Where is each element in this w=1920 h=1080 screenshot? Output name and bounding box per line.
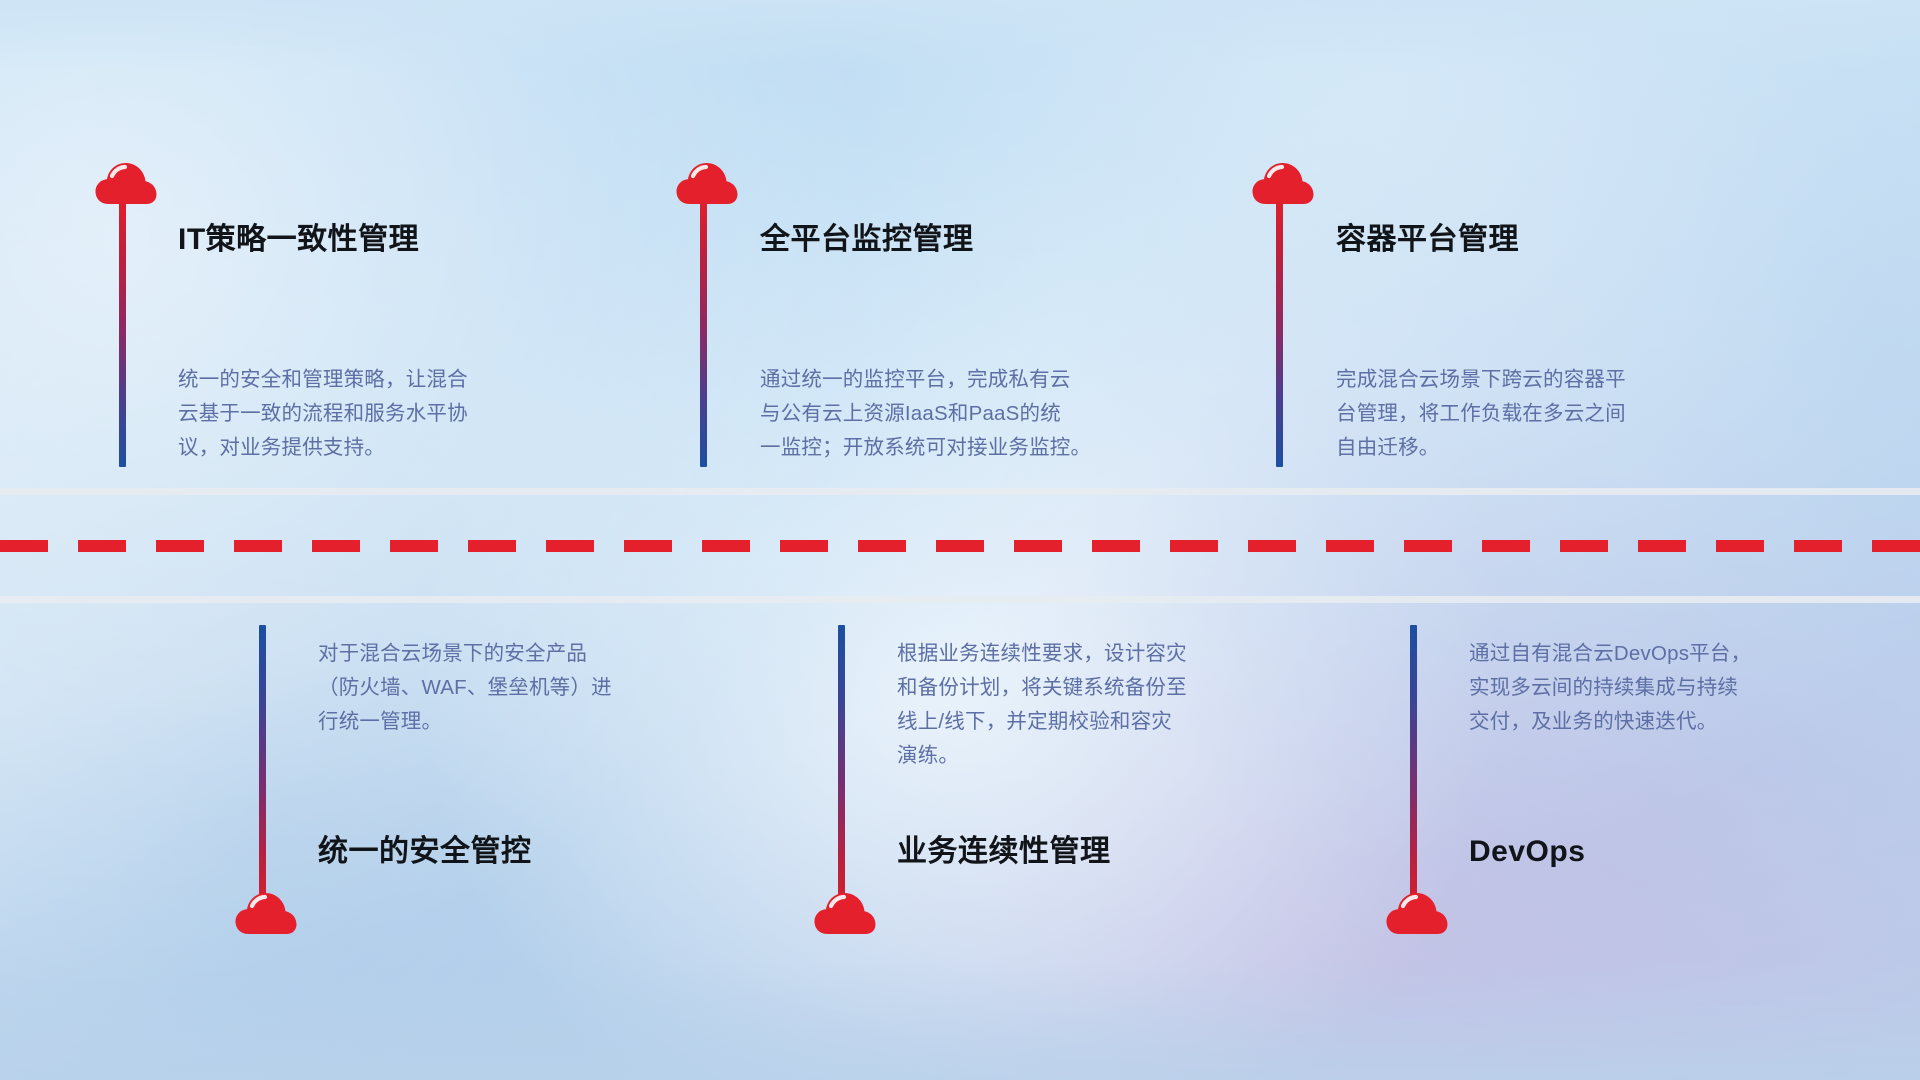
bottom-vignette xyxy=(0,960,1920,1080)
timeline-stem xyxy=(1410,625,1417,908)
cloud-icon xyxy=(676,160,738,206)
dashed-divider xyxy=(0,540,1920,552)
infographic-canvas: IT策略一致性管理 统一的安全和管理策略，让混合 云基于一致的流程和服务水平协 … xyxy=(0,0,1920,1080)
timeline-stem xyxy=(700,202,707,467)
divider-rule-top xyxy=(0,488,1920,495)
section-heading: 全平台监控管理 xyxy=(760,225,974,255)
cloud-icon xyxy=(1386,890,1448,936)
section-heading: IT策略一致性管理 xyxy=(178,225,419,255)
timeline-stem xyxy=(259,625,266,908)
section-body: 完成混合云场景下跨云的容器平 台管理，将工作负载在多云之间 自由迁移。 xyxy=(1336,363,1776,465)
section-body: 通过统一的监控平台，完成私有云 与公有云上资源IaaS和PaaS的统 一监控；开… xyxy=(760,363,1200,465)
timeline-stem xyxy=(838,625,845,908)
timeline-stem xyxy=(1276,202,1283,467)
section-body: 统一的安全和管理策略，让混合 云基于一致的流程和服务水平协 议，对业务提供支持。 xyxy=(178,363,608,465)
divider-rule-bottom xyxy=(0,596,1920,603)
section-heading: 容器平台管理 xyxy=(1336,225,1519,255)
section-heading: 业务连续性管理 xyxy=(897,837,1111,867)
cloud-icon xyxy=(235,890,297,936)
cloud-icon xyxy=(95,160,157,206)
cloud-icon xyxy=(1252,160,1314,206)
section-body: 对于混合云场景下的安全产品 （防火墙、WAF、堡垒机等）进 行统一管理。 xyxy=(318,637,748,739)
section-body: 根据业务连续性要求，设计容灾 和备份计划，将关键系统备份至 线上/线下，并定期校… xyxy=(897,637,1327,773)
section-heading: 统一的安全管控 xyxy=(318,837,532,867)
section-body: 通过自有混合云DevOps平台， 实现多云间的持续集成与持续 交付，及业务的快速… xyxy=(1469,637,1899,739)
section-heading: DevOps xyxy=(1469,837,1585,867)
timeline-stem xyxy=(119,202,126,467)
top-vignette xyxy=(0,0,1920,70)
cloud-icon xyxy=(814,890,876,936)
